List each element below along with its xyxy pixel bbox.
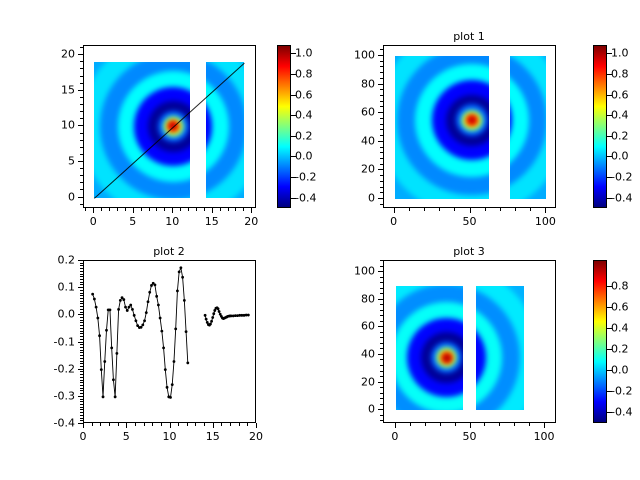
panel-bottom-right-ytick-minor <box>380 315 383 316</box>
panel-top-left-ytick-major <box>78 161 83 162</box>
panel-bottom-left-ytick-minor <box>80 358 83 359</box>
panel-bottom-left-xtick-minor <box>239 423 240 426</box>
panel-bottom-left-xtick-minor <box>135 423 136 426</box>
panel-top-left-xtick-minor <box>109 208 110 211</box>
panel-bottom-right-yticklabel: 100 <box>323 265 375 278</box>
panel-bottom-left-xtick-major <box>213 423 214 428</box>
panel-bottom-left-xticklabel: 0 <box>80 430 87 443</box>
panel-top-left-colorbar-ticklabel: 1.0 <box>295 47 313 60</box>
panel-top-right-ytick-minor <box>380 66 383 67</box>
panel-bottom-left-xtick-major <box>256 423 257 428</box>
panel-bottom-left-xtick-major <box>83 423 84 428</box>
panel-bottom-right-ytick-minor <box>380 337 383 338</box>
panel-bottom-left-xtick-minor <box>230 423 231 426</box>
panel-bottom-left-ytick-major <box>78 314 83 315</box>
panel-bottom-left-ytick-major <box>78 260 83 261</box>
panel-top-left-ytick-minor <box>80 83 83 84</box>
panel-bottom-right-xtick-minor <box>425 423 426 426</box>
panel-top-right-colorbar-ticklabel: -0.2 <box>611 171 632 184</box>
panel-bottom-left-yticklabel: 0.1 <box>23 281 75 294</box>
panel-bottom-left-ytick-minor <box>80 347 83 348</box>
panel-top-left-colorbar-ticklabel: 0.4 <box>295 109 313 122</box>
panel-bottom-right-yticklabel: 40 <box>323 347 375 360</box>
panel-top-right-ytick-major <box>378 198 383 199</box>
panel-bottom-right-ytick-minor <box>380 376 383 377</box>
panel-bottom-left-ytick-minor <box>80 328 83 329</box>
panel-bottom-left-ytick-minor <box>80 409 83 410</box>
panel-top-left-ytick-minor <box>80 140 83 141</box>
panel-top-right-yticklabel: 60 <box>323 106 375 119</box>
panel-bottom-left-xtick-minor <box>195 423 196 426</box>
panel-bottom-left-ytick-minor <box>80 336 83 337</box>
panel-bottom-right-ytick-minor <box>380 398 383 399</box>
panel-bottom-left-xtick-major <box>126 423 127 428</box>
panel-bottom-right-ytick-minor <box>380 293 383 294</box>
panel-top-right-colorbar <box>593 45 607 208</box>
panel-top-left-xtick-minor <box>156 208 157 211</box>
panel-bottom-right-ytick-major <box>378 354 383 355</box>
panel-top-right-colorbar-ticklabel: 0.2 <box>611 129 629 142</box>
panel-top-right-xtick-major <box>545 208 546 213</box>
panel-bottom-right-ytick-major <box>378 299 383 300</box>
panel-top-right-xtick-minor <box>485 208 486 211</box>
panel-bottom-left-ytick-minor <box>80 344 83 345</box>
panel-bottom-left-ytick-minor <box>80 271 83 272</box>
panel-top-left-axes <box>83 45 256 208</box>
panel-bottom-left-yticklabel: -0.4 <box>23 417 75 430</box>
panel-top-right-xtick-minor <box>515 208 516 211</box>
panel-top-left-xtick-minor <box>85 208 86 211</box>
panel-bottom-right-ytick-minor <box>380 393 383 394</box>
panel-bottom-left-ytick-minor <box>80 333 83 334</box>
panel-top-right-ytick-minor <box>380 147 383 148</box>
panel-bottom-right-ytick-major <box>378 326 383 327</box>
panel-bottom-right-ytick-major <box>378 382 383 383</box>
panel-top-right-field-patch <box>395 56 489 199</box>
panel-bottom-right-xtick-minor <box>529 423 530 426</box>
panel-bottom-left-xtick-minor <box>221 423 222 426</box>
panel-top-left-ytick-minor <box>80 76 83 77</box>
panel-bottom-right-ytick-minor <box>380 266 383 267</box>
panel-top-left-xtick-minor <box>164 208 165 211</box>
panel-top-left-xtick-major <box>212 208 213 213</box>
panel-top-left-xtick-minor <box>196 208 197 211</box>
panel-top-left-colorbar-ticklabel: -0.2 <box>295 171 316 184</box>
panel-bottom-left-xtick-minor <box>118 423 119 426</box>
panel-bottom-left-xtick-minor <box>161 423 162 426</box>
panel-top-left-xtick-minor <box>125 208 126 211</box>
panel-bottom-left-ytick-minor <box>80 388 83 389</box>
panel-bottom-left-yticklabel: -0.3 <box>23 389 75 402</box>
panel-bottom-left-ytick-minor <box>80 407 83 408</box>
panel-top-left-ytick-minor <box>80 118 83 119</box>
panel-top-right-ytick-minor <box>380 101 383 102</box>
panel-bottom-left-ytick-minor <box>80 265 83 266</box>
panel-bottom-right-colorbar-ticklabel: 0.2 <box>611 343 629 356</box>
panel-bottom-left-ytick-minor <box>80 320 83 321</box>
panel-bottom-left-ytick-minor <box>80 366 83 367</box>
panel-bottom-left-ytick-minor <box>80 371 83 372</box>
panel-bottom-left-ytick-minor <box>80 355 83 356</box>
panel-top-right-xtick-minor <box>530 208 531 211</box>
panel-top-right-colorbar-ticklabel: -0.4 <box>611 191 632 204</box>
panel-top-left-xtick-major <box>133 208 134 213</box>
panel-top-left-xtick-minor <box>204 208 205 211</box>
panel-bottom-left-ytick-minor <box>80 290 83 291</box>
panel-bottom-left-xtick-minor <box>109 423 110 426</box>
panel-bottom-left-ytick-major <box>78 287 83 288</box>
panel-bottom-left-ytick-major <box>78 423 83 424</box>
panel-top-left-ytick-minor <box>80 204 83 205</box>
panel-bottom-right-xticklabel: 0 <box>391 430 398 443</box>
panel-bottom-right-colorbar <box>593 260 607 423</box>
panel-top-left-ytick-minor <box>80 111 83 112</box>
panel-top-left-ytick-minor <box>80 154 83 155</box>
panel-bottom-right-axes <box>383 260 556 423</box>
panel-top-left-xticklabel: 5 <box>129 215 136 228</box>
panel-top-left-xtick-minor <box>188 208 189 211</box>
panel-bottom-left-title: plot 2 <box>99 245 239 258</box>
panel-top-left-xtick-minor <box>101 208 102 211</box>
panel-top-right-xtick-major <box>394 208 395 213</box>
panel-bottom-right-xticklabel: 100 <box>534 430 555 443</box>
panel-bottom-left-ytick-minor <box>80 293 83 294</box>
panel-top-left-ytick-minor <box>80 133 83 134</box>
panel-bottom-right-xtick-minor <box>484 423 485 426</box>
panel-top-left-xtick-minor <box>117 208 118 211</box>
panel-bottom-right-xtick-minor <box>499 423 500 426</box>
panel-bottom-left-ytick-minor <box>80 339 83 340</box>
panel-bottom-right-colorbar-ticklabel: 0.0 <box>611 364 629 377</box>
panel-top-left-xtick-minor <box>141 208 142 211</box>
panel-bottom-right-ytick-minor <box>380 288 383 289</box>
panel-top-left-colorbar-ticklabel: 0.6 <box>295 88 313 101</box>
panel-bottom-left-ytick-major <box>78 369 83 370</box>
panel-bottom-right-ytick-minor <box>380 415 383 416</box>
panel-bottom-left-ytick-minor <box>80 350 83 351</box>
panel-bottom-left-ytick-minor <box>80 284 83 285</box>
panel-top-right-ytick-minor <box>380 72 383 73</box>
panel-bottom-right-ytick-minor <box>380 277 383 278</box>
panel-top-right-ytick-minor <box>380 175 383 176</box>
panel-top-left-xticklabel: 10 <box>165 215 179 228</box>
panel-top-right-ytick-minor <box>380 181 383 182</box>
panel-bottom-right-ytick-minor <box>380 404 383 405</box>
panel-top-left-ytick-major <box>78 125 83 126</box>
panel-bottom-left-ytick-minor <box>80 393 83 394</box>
panel-bottom-left-ytick-minor <box>80 390 83 391</box>
panel-top-left-ytick-minor <box>80 68 83 69</box>
panel-bottom-right-xtick-major <box>395 423 396 428</box>
panel-bottom-left-ytick-minor <box>80 268 83 269</box>
panel-top-right-ytick-major <box>378 169 383 170</box>
panel-top-left-xtick-minor <box>228 208 229 211</box>
figure-canvas: 0510152005101520-0.4-0.20.00.20.40.60.81… <box>0 0 640 480</box>
panel-bottom-left-ytick-minor <box>80 274 83 275</box>
panel-top-left-ytick-minor <box>80 61 83 62</box>
panel-bottom-left-ytick-minor <box>80 317 83 318</box>
panel-bottom-right-field-ring <box>444 355 450 361</box>
panel-top-left-ytick-minor <box>80 182 83 183</box>
panel-bottom-left-ytick-minor <box>80 401 83 402</box>
panel-bottom-left-ytick-minor <box>80 279 83 280</box>
panel-top-right-ytick-minor <box>380 164 383 165</box>
panel-top-left-xtick-minor <box>149 208 150 211</box>
panel-top-left-ytick-minor <box>80 175 83 176</box>
panel-top-right-ytick-major <box>378 112 383 113</box>
panel-bottom-left-xtick-minor <box>204 423 205 426</box>
panel-bottom-right-xtick-minor <box>440 423 441 426</box>
panel-top-right-ytick-minor <box>380 187 383 188</box>
panel-top-left-ytick-minor <box>80 168 83 169</box>
panel-top-left-yticklabel: 20 <box>23 48 75 61</box>
panel-top-left-colorbar-gradient <box>278 46 290 207</box>
panel-top-right-ytick-major <box>378 84 383 85</box>
panel-bottom-right-ytick-minor <box>380 365 383 366</box>
panel-top-right-ytick-major <box>378 55 383 56</box>
panel-bottom-right-ytick-minor <box>380 304 383 305</box>
panel-top-right-ytick-minor <box>380 106 383 107</box>
panel-bottom-left-ytick-minor <box>80 331 83 332</box>
panel-top-right-xtick-minor <box>500 208 501 211</box>
panel-bottom-left-ytick-minor <box>80 276 83 277</box>
panel-top-right-ytick-minor <box>380 89 383 90</box>
panel-top-left-ytick-minor <box>80 97 83 98</box>
panel-top-right-xticklabel: 50 <box>463 215 477 228</box>
panel-bottom-left-xtick-minor <box>144 423 145 426</box>
panel-bottom-left-ytick-minor <box>80 382 83 383</box>
panel-top-right-ytick-minor <box>380 61 383 62</box>
panel-bottom-left-ytick-minor <box>80 415 83 416</box>
panel-top-left-ytick-minor <box>80 104 83 105</box>
panel-bottom-right-yticklabel: 0 <box>323 403 375 416</box>
panel-top-right-ytick-minor <box>380 78 383 79</box>
panel-bottom-right-yticklabel: 20 <box>323 375 375 388</box>
panel-bottom-right-ytick-minor <box>380 387 383 388</box>
panel-bottom-left-ytick-minor <box>80 380 83 381</box>
panel-top-right-yticklabel: 80 <box>323 77 375 90</box>
panel-top-right-yticklabel: 40 <box>323 134 375 147</box>
panel-bottom-left-yticklabel: 0.2 <box>23 254 75 267</box>
panel-top-left-xtick-minor <box>243 208 244 211</box>
panel-top-left-xtick-major <box>93 208 94 213</box>
panel-bottom-right-ytick-minor <box>380 282 383 283</box>
panel-top-left-colorbar-ticklabel: 0.2 <box>295 129 313 142</box>
panel-bottom-right-yticklabel: 80 <box>323 292 375 305</box>
panel-bottom-right-colorbar-ticklabel: 0.8 <box>611 280 629 293</box>
panel-bottom-right-xtick-minor <box>514 423 515 426</box>
panel-bottom-left-yticklabel: 0.0 <box>23 308 75 321</box>
panel-top-right-colorbar-gradient <box>594 46 606 207</box>
panel-top-right-yticklabel: 0 <box>323 191 375 204</box>
panel-bottom-left-line-series <box>84 261 256 423</box>
panel-bottom-left-yticklabel: -0.2 <box>23 362 75 375</box>
panel-bottom-left-ytick-minor <box>80 322 83 323</box>
panel-bottom-left-xticklabel: 20 <box>249 430 263 443</box>
panel-top-right-xtick-minor <box>439 208 440 211</box>
panel-bottom-left-ytick-minor <box>80 404 83 405</box>
panel-top-left-yticklabel: 10 <box>23 119 75 132</box>
panel-bottom-right-xticklabel: 50 <box>463 430 477 443</box>
panel-top-left-ytick-minor <box>80 47 83 48</box>
panel-top-left-colorbar-ticklabel: 0.0 <box>295 150 313 163</box>
panel-top-right-xtick-major <box>470 208 471 213</box>
panel-bottom-right-yticklabel: 60 <box>323 320 375 333</box>
panel-bottom-left-ytick-minor <box>80 385 83 386</box>
panel-top-right-ytick-minor <box>380 204 383 205</box>
panel-bottom-left-ytick-minor <box>80 363 83 364</box>
panel-bottom-right-ytick-minor <box>380 310 383 311</box>
panel-bottom-left-xtick-minor <box>247 423 248 426</box>
panel-top-left-xtick-minor <box>220 208 221 211</box>
panel-bottom-right-field-patch <box>476 286 524 410</box>
panel-bottom-left-xtick-major <box>170 423 171 428</box>
panel-bottom-left-xtick-minor <box>100 423 101 426</box>
panel-bottom-left-axes <box>83 260 256 423</box>
panel-bottom-left-ytick-minor <box>80 295 83 296</box>
panel-bottom-right-xtick-major <box>544 423 545 428</box>
panel-bottom-left-ytick-minor <box>80 301 83 302</box>
panel-bottom-left-xtick-minor <box>187 423 188 426</box>
panel-bottom-left-xtick-minor <box>92 423 93 426</box>
panel-bottom-left-yticklabel: -0.1 <box>23 335 75 348</box>
panel-bottom-left-ytick-minor <box>80 298 83 299</box>
panel-bottom-right-colorbar-ticklabel: 0.6 <box>611 301 629 314</box>
panel-bottom-left-ytick-minor <box>80 263 83 264</box>
panel-bottom-left-ytick-minor <box>80 420 83 421</box>
panel-bottom-left-ytick-minor <box>80 361 83 362</box>
panel-top-right-axes <box>383 45 556 208</box>
panel-bottom-left-xtick-minor <box>152 423 153 426</box>
panel-top-left-colorbar-ticklabel: -0.4 <box>295 191 316 204</box>
panel-top-left-xtick-minor <box>180 208 181 211</box>
panel-bottom-left-ytick-major <box>78 342 83 343</box>
panel-top-right-xtick-minor <box>454 208 455 211</box>
panel-bottom-left-ytick-minor <box>80 306 83 307</box>
panel-bottom-left-ytick-minor <box>80 418 83 419</box>
panel-top-right-colorbar-ticklabel: 0.4 <box>611 109 629 122</box>
panel-bottom-right-ytick-major <box>378 271 383 272</box>
panel-top-right-colorbar-ticklabel: 0.0 <box>611 150 629 163</box>
panel-top-left-ytick-major <box>78 90 83 91</box>
panel-bottom-left-ytick-minor <box>80 412 83 413</box>
panel-bottom-left-xticklabel: 15 <box>206 430 220 443</box>
panel-top-left-yticklabel: 15 <box>23 83 75 96</box>
panel-bottom-left-ytick-minor <box>80 399 83 400</box>
panel-top-right-xticklabel: 0 <box>390 215 397 228</box>
panel-bottom-right-ytick-major <box>378 409 383 410</box>
panel-top-right-xtick-minor <box>424 208 425 211</box>
panel-top-left-xtick-major <box>251 208 252 213</box>
panel-top-left-yticklabel: 5 <box>23 155 75 168</box>
panel-bottom-left-ytick-minor <box>80 303 83 304</box>
panel-top-right-ytick-minor <box>380 95 383 96</box>
panel-bottom-right-ytick-minor <box>380 321 383 322</box>
panel-top-right-yticklabel: 20 <box>323 163 375 176</box>
panel-top-right-field-patch <box>510 56 546 199</box>
panel-top-right-colorbar-ticklabel: 0.6 <box>611 88 629 101</box>
panel-top-left-ytick-minor <box>80 189 83 190</box>
panel-bottom-right-colorbar-gradient <box>594 261 606 422</box>
panel-top-right-xticklabel: 100 <box>535 215 556 228</box>
panel-bottom-left-ytick-major <box>78 396 83 397</box>
panel-bottom-right-xtick-major <box>470 423 471 428</box>
panel-top-right-ytick-minor <box>380 118 383 119</box>
panel-top-left-field-patch <box>94 62 190 197</box>
panel-top-right-ytick-minor <box>380 158 383 159</box>
panel-bottom-left-ytick-minor <box>80 282 83 283</box>
panel-top-left-field-patch <box>206 62 245 197</box>
panel-top-left-xticklabel: 0 <box>90 215 97 228</box>
panel-bottom-left-ytick-minor <box>80 309 83 310</box>
panel-top-right-ytick-minor <box>380 192 383 193</box>
panel-bottom-right-ytick-minor <box>380 260 383 261</box>
panel-top-left-colorbar <box>277 45 291 208</box>
panel-top-right-colorbar-ticklabel: 1.0 <box>611 47 629 60</box>
panel-bottom-right-field-patch <box>396 286 463 410</box>
panel-bottom-right-title: plot 3 <box>399 245 539 258</box>
panel-top-right-xtick-minor <box>409 208 410 211</box>
panel-top-left-ytick-major <box>78 197 83 198</box>
panel-bottom-left-ytick-minor <box>80 374 83 375</box>
panel-top-right-ytick-major <box>378 141 383 142</box>
panel-top-right-ytick-minor <box>380 129 383 130</box>
panel-top-left-yticklabel: 0 <box>23 190 75 203</box>
panel-top-right-title: plot 1 <box>399 30 539 43</box>
panel-top-left-ytick-minor <box>80 147 83 148</box>
panel-bottom-right-ytick-minor <box>380 359 383 360</box>
panel-bottom-right-xtick-minor <box>455 423 456 426</box>
panel-bottom-left-xticklabel: 10 <box>163 430 177 443</box>
panel-top-left-xtick-minor <box>235 208 236 211</box>
panel-bottom-right-ytick-minor <box>380 343 383 344</box>
panel-top-right-yticklabel: 100 <box>323 49 375 62</box>
panel-bottom-right-ytick-minor <box>380 371 383 372</box>
panel-top-left-xticklabel: 15 <box>205 215 219 228</box>
panel-top-right-ytick-minor <box>380 135 383 136</box>
panel-bottom-right-colorbar-ticklabel: -0.2 <box>611 385 632 398</box>
panel-top-left-ytick-major <box>78 54 83 55</box>
panel-bottom-right-colorbar-ticklabel: -0.4 <box>611 406 632 419</box>
panel-top-right-ytick-minor <box>380 124 383 125</box>
panel-top-right-colorbar-ticklabel: 0.8 <box>611 67 629 80</box>
panel-bottom-right-colorbar-ticklabel: 0.4 <box>611 322 629 335</box>
panel-bottom-left-xtick-minor <box>178 423 179 426</box>
panel-top-left-xticklabel: 20 <box>244 215 258 228</box>
panel-top-right-ytick-minor <box>380 152 383 153</box>
panel-bottom-right-ytick-minor <box>380 420 383 421</box>
panel-top-right-ytick-minor <box>380 49 383 50</box>
panel-top-left-xtick-major <box>172 208 173 213</box>
panel-bottom-left-ytick-minor <box>80 312 83 313</box>
panel-bottom-right-ytick-minor <box>380 332 383 333</box>
panel-bottom-right-xtick-minor <box>410 423 411 426</box>
panel-bottom-left-ytick-minor <box>80 377 83 378</box>
panel-top-left-colorbar-ticklabel: 0.8 <box>295 67 313 80</box>
panel-bottom-left-ytick-minor <box>80 352 83 353</box>
panel-bottom-left-ytick-minor <box>80 325 83 326</box>
panel-bottom-left-xticklabel: 5 <box>123 430 130 443</box>
panel-bottom-right-ytick-minor <box>380 348 383 349</box>
